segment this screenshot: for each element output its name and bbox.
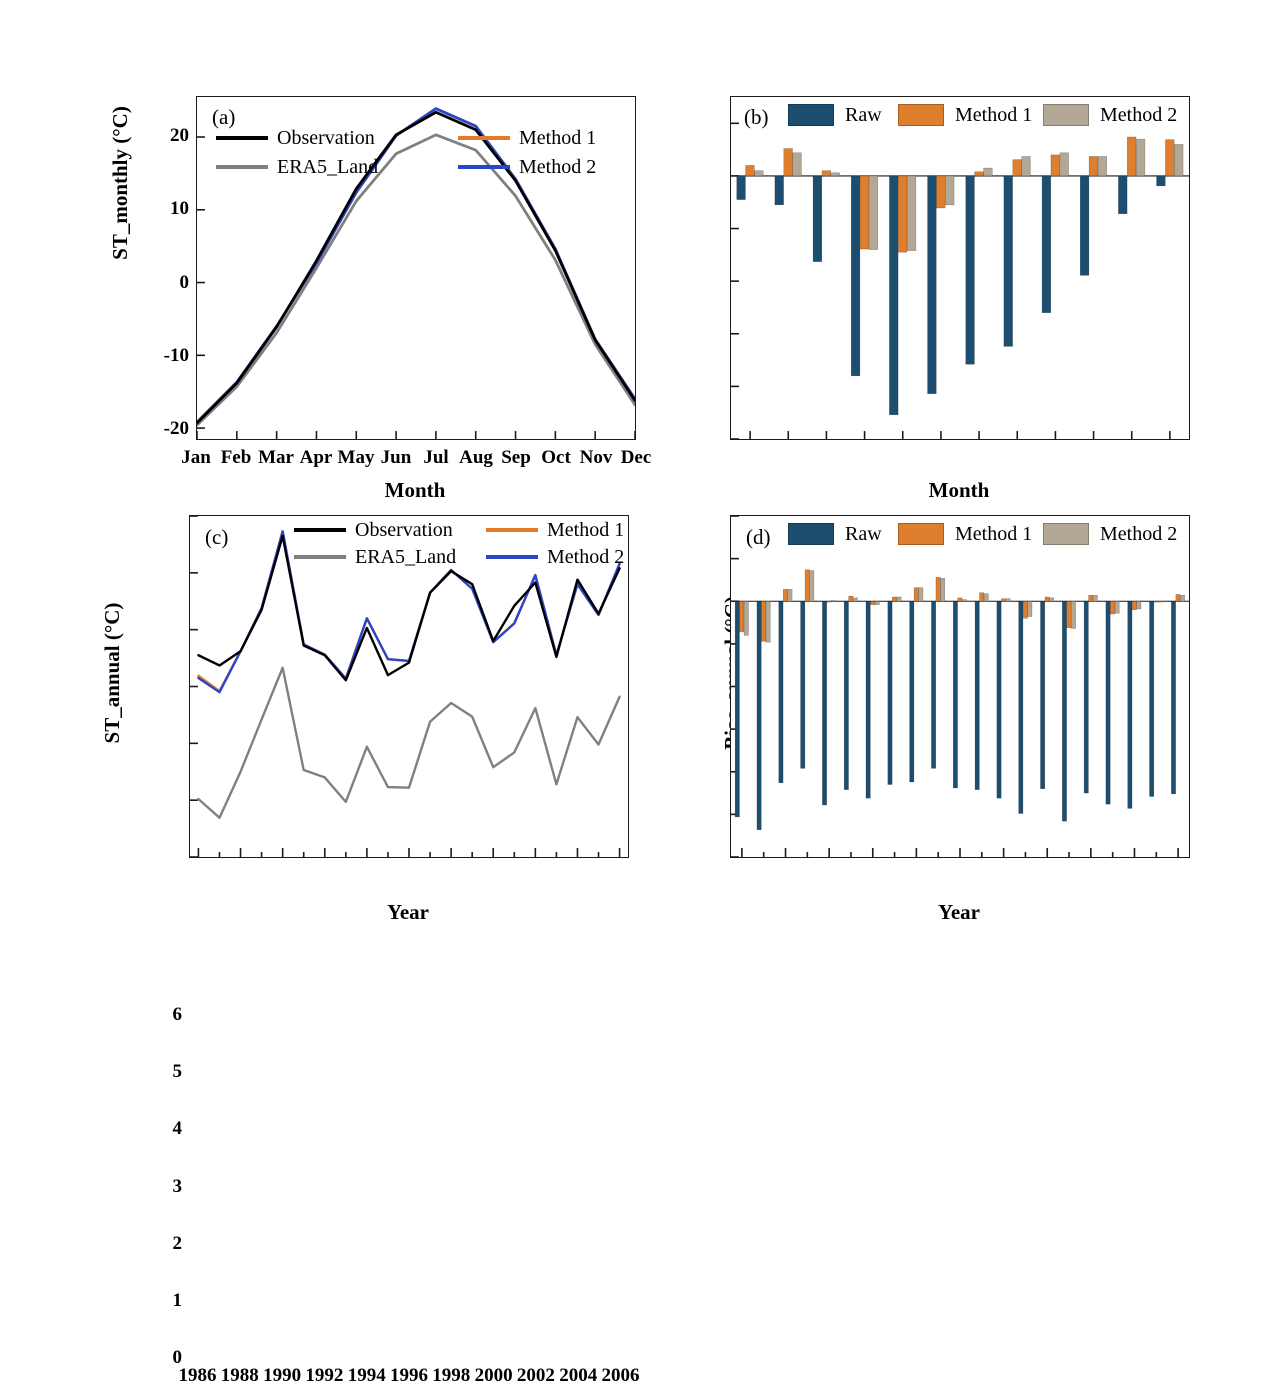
legend-label-method1-bar: Method 1 — [955, 524, 1032, 544]
axis-tick-label: Apr — [300, 447, 333, 469]
legend-swatch-method1 — [486, 528, 538, 532]
legend-swatch-era5-land — [294, 555, 346, 559]
axis-tick-label: Jun — [381, 447, 412, 469]
legend-label-method1: Method 1 — [519, 128, 596, 148]
legend-label-method2: Method 2 — [547, 547, 624, 567]
legend-swatch-method2 — [486, 555, 538, 559]
legend-swatch-method2 — [458, 165, 510, 169]
panel-a-legend: Observation ERA5_Land Method 1 Method 2 — [196, 96, 636, 440]
panel-d: Bias_annual (°C) Year (d) -3.0-2.5-2.0-1… — [640, 500, 1269, 971]
panel-b: Bias_monthly (°C) Month (b) -5-4-3-2-101… — [640, 0, 1269, 500]
panel-d-legend: Raw Method 1 Method 2 — [730, 515, 1190, 858]
panel-a-y-axis-title: ST_monthly (°C) — [107, 58, 133, 308]
axis-tick-label: May — [338, 447, 375, 469]
axis-tick-label: 1 — [127, 1290, 182, 1312]
legend-label-observation: Observation — [277, 128, 375, 148]
axis-tick-label: 2 — [127, 1233, 182, 1255]
axis-tick-label: -10 — [134, 345, 189, 367]
panel-c-y-axis-title: ST_annual (°C) — [99, 548, 125, 798]
legend-swatch-method2-bar — [1043, 523, 1089, 545]
panel-c-legend: Observation ERA5_Land Method 1 Method 2 — [189, 515, 629, 858]
legend-swatch-observation — [216, 136, 268, 140]
axis-tick-label: 0 — [134, 272, 189, 294]
axis-tick-label: -20 — [134, 418, 189, 440]
axis-tick-label: 20 — [134, 125, 189, 147]
panel-c-x-axis-title: Year — [188, 900, 628, 925]
axis-tick-label: 10 — [134, 198, 189, 220]
panel-a: ST_monthly (°C) Month (a) -20-1001020Jan… — [0, 0, 640, 500]
axis-tick-label: 1988 — [221, 1365, 259, 1387]
axis-tick-label: 1990 — [263, 1365, 301, 1387]
axis-tick-label: Nov — [580, 447, 613, 469]
axis-tick-label: Feb — [221, 447, 252, 469]
axis-tick-label: Oct — [541, 447, 571, 469]
axis-tick-label: 2006 — [602, 1365, 640, 1387]
axis-tick-label: 3 — [127, 1176, 182, 1198]
legend-swatch-method1-bar — [898, 104, 944, 126]
legend-swatch-method1-bar — [898, 523, 944, 545]
legend-label-era5-land: ERA5_Land — [355, 547, 456, 567]
legend-label-method2-bar: Method 2 — [1100, 105, 1177, 125]
legend-label-method1-bar: Method 1 — [955, 105, 1032, 125]
axis-tick-label: Mar — [258, 447, 294, 469]
legend-swatch-observation — [294, 528, 346, 532]
axis-tick-label: 2004 — [559, 1365, 597, 1387]
legend-label-method2: Method 2 — [519, 157, 596, 177]
axis-tick-label: 1992 — [305, 1365, 343, 1387]
axis-tick-label: 1994 — [348, 1365, 386, 1387]
legend-swatch-method2-bar — [1043, 104, 1089, 126]
legend-swatch-raw — [788, 104, 834, 126]
axis-tick-label: 4 — [127, 1118, 182, 1140]
legend-label-method2-bar: Method 2 — [1100, 524, 1177, 544]
legend-label-observation: Observation — [355, 520, 453, 540]
legend-label-era5-land: ERA5_Land — [277, 157, 378, 177]
axis-tick-label: 1996 — [390, 1365, 428, 1387]
legend-label-raw: Raw — [845, 524, 882, 544]
legend-label-raw: Raw — [845, 105, 882, 125]
axis-tick-label: 1998 — [432, 1365, 470, 1387]
legend-swatch-raw — [788, 523, 834, 545]
axis-tick-label: 5 — [127, 1061, 182, 1083]
axis-tick-label: 0 — [127, 1347, 182, 1369]
axis-tick-label: Sep — [501, 447, 531, 469]
axis-tick-label: 2000 — [475, 1365, 513, 1387]
axis-tick-label: 1986 — [178, 1365, 216, 1387]
panel-b-legend: Raw Method 1 Method 2 — [730, 96, 1190, 440]
axis-tick-label: 2002 — [517, 1365, 555, 1387]
legend-swatch-method1 — [458, 136, 510, 140]
axis-tick-label: Jan — [181, 447, 211, 469]
axis-tick-label: 6 — [127, 1004, 182, 1026]
panel-c: ST_annual (°C) Year (c) 0123456198619881… — [0, 500, 640, 971]
axis-tick-label: Jul — [423, 447, 448, 469]
legend-swatch-era5-land — [216, 165, 268, 169]
axis-tick-label: Aug — [459, 447, 493, 469]
panel-d-x-axis-title: Year — [729, 900, 1189, 925]
figure-root: ST_monthly (°C) Month (a) -20-1001020Jan… — [0, 0, 1269, 971]
legend-label-method1: Method 1 — [547, 520, 624, 540]
